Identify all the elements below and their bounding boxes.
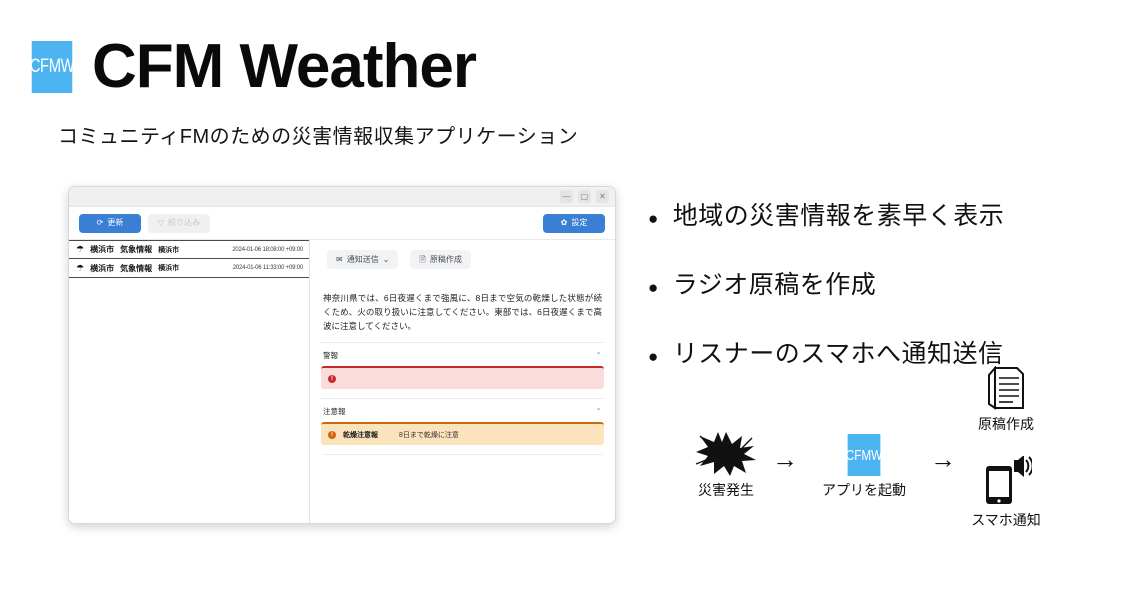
mail-icon: ✉ (336, 256, 343, 264)
detail-divider (323, 454, 602, 523)
workflow-diagram: 災害発生 → CFMW アプリを起動 → 原稿作成 (686, 368, 1046, 548)
bullet-icon: ● (648, 210, 659, 227)
row-timestamp: 2024-01-06 18:08:00 +09:00 (232, 247, 303, 253)
cfmw-logo-text: CFMW (30, 56, 75, 78)
table-row[interactable]: ☂ 横浜市 気象情報 横浜市 2024-01-06 18:08:00 +09:0… (69, 240, 309, 259)
flow-label-disaster: 災害発生 (686, 480, 766, 500)
advisory-alert-title: 乾燥注意報 (343, 430, 378, 440)
row-kind: 気象情報 (120, 263, 152, 274)
detail-action-bar: ✉ 通知送信 ⌄ 🗎 原稿作成 (321, 248, 604, 269)
filter-button-label: 絞り込み (168, 219, 200, 227)
list-item: ● 地域の災害情報を素早く表示 (648, 196, 1004, 232)
settings-button-label: 設定 (571, 219, 587, 227)
row-area: 横浜市 (158, 263, 179, 273)
warning-section-title: 警報 (323, 350, 338, 361)
alert-body-text: 神奈川県では、6日夜遅くまで強風に、8日まで空気の乾燥した状態が続くため、火の取… (321, 291, 604, 333)
filter-button[interactable]: ▽ 絞り込み (148, 214, 210, 233)
chevron-up-icon: ⌃ (595, 407, 602, 416)
feature-label: 地域の災害情報を素早く表示 (673, 196, 1005, 232)
flow-node-app: CFMW アプリを起動 (804, 434, 924, 500)
flow-node-notify: スマホ通知 (956, 456, 1056, 530)
refresh-button-label: 更新 (107, 219, 123, 227)
create-script-button[interactable]: 🗎 原稿作成 (410, 250, 470, 269)
document-icon (987, 366, 1025, 410)
alert-list-pane[interactable]: ☂ 横浜市 気象情報 横浜市 2024-01-06 18:08:00 +09:0… (69, 240, 310, 523)
feature-label: ラジオ原稿を作成 (673, 265, 877, 301)
cfmw-logo-icon: CFMW (32, 41, 73, 93)
flow-node-disaster: 災害発生 (686, 430, 766, 500)
flow-label-script: 原稿作成 (960, 414, 1052, 434)
filter-icon: ▽ (158, 219, 164, 227)
row-area: 横浜市 (158, 245, 179, 255)
arrow-icon: → (930, 446, 956, 472)
feature-label: リスナーのスマホへ通知送信 (673, 334, 1004, 370)
cfmw-logo-icon: CFMW (848, 434, 881, 476)
refresh-button[interactable]: ⟳ 更新 (79, 214, 141, 233)
smartphone-notification-icon (980, 456, 1032, 506)
alert-detail-pane: ✉ 通知送信 ⌄ 🗎 原稿作成 神奈川県では、6日夜遅くまで強風に、8日まで空気… (310, 240, 615, 523)
flow-node-script: 原稿作成 (960, 366, 1052, 434)
bullet-icon: ● (648, 279, 659, 296)
settings-button[interactable]: ✿ 設定 (543, 214, 605, 233)
send-notification-label: 通知送信 (347, 256, 379, 264)
arrow-icon: → (772, 446, 798, 472)
chevron-up-icon: ⌃ (595, 351, 602, 360)
window-body: ☂ 横浜市 気象情報 横浜市 2024-01-06 18:08:00 +09:0… (69, 240, 615, 523)
window-titlebar: — ▢ ✕ (69, 187, 615, 207)
flow-label-notify: スマホ通知 (956, 510, 1056, 530)
row-kind: 気象情報 (120, 244, 152, 255)
app-window-screenshot: — ▢ ✕ ⟳ 更新 ▽ 絞り込み ✿ 設定 ☂ 横浜市 (68, 186, 616, 524)
burst-icon (694, 430, 758, 476)
row-city: 横浜市 (90, 263, 114, 274)
page-header: CFMW CFM Weather (26, 36, 476, 98)
minimize-icon[interactable]: — (560, 190, 573, 203)
app-toolbar: ⟳ 更新 ▽ 絞り込み ✿ 設定 (69, 207, 615, 240)
close-icon[interactable]: ✕ (596, 190, 609, 203)
flow-label-app: アプリを起動 (804, 480, 924, 500)
slide-root: CFMW CFM Weather コミュニティFMのための災害情報収集アプリケー… (0, 0, 1140, 607)
row-timestamp: 2024-01-06 11:33:00 +09:00 (233, 265, 303, 271)
list-item: ● リスナーのスマホへ通知送信 (648, 334, 1004, 370)
document-icon: 🗎 (419, 256, 425, 264)
row-city: 横浜市 (90, 244, 114, 255)
table-row[interactable]: ☂ 横浜市 気象情報 横浜市 2024-01-06 11:33:00 +09:0… (69, 259, 309, 278)
warning-section-header[interactable]: 警報 ⌃ (321, 342, 604, 366)
alert-icon: ! (328, 431, 336, 439)
umbrella-icon: ☂ (76, 245, 84, 254)
umbrella-icon: ☂ (76, 264, 84, 273)
page-subtitle: コミュニティFMのための災害情報収集アプリケーション (58, 120, 578, 149)
page-title: CFM Weather (92, 36, 476, 98)
advisory-section-title: 注意報 (323, 406, 346, 417)
advisory-alert-desc: 8日まで乾燥に注意 (399, 430, 459, 440)
advisory-section-header[interactable]: 注意報 ⌃ (321, 398, 604, 422)
cfmw-logo-text: CFMW (846, 447, 882, 464)
maximize-icon[interactable]: ▢ (578, 190, 591, 203)
send-notification-button[interactable]: ✉ 通知送信 ⌄ (327, 250, 398, 269)
gear-icon: ✿ (561, 219, 568, 227)
create-script-label: 原稿作成 (430, 256, 462, 264)
alert-icon: ! (328, 375, 336, 383)
list-item: ● ラジオ原稿を作成 (648, 265, 1004, 301)
refresh-icon: ⟳ (97, 219, 104, 227)
chevron-down-icon: ⌄ (383, 256, 390, 264)
warning-alert-item[interactable]: ! (321, 366, 604, 389)
bullet-icon: ● (648, 348, 659, 365)
advisory-alert-item[interactable]: ! 乾燥注意報 8日まで乾燥に注意 (321, 422, 604, 445)
